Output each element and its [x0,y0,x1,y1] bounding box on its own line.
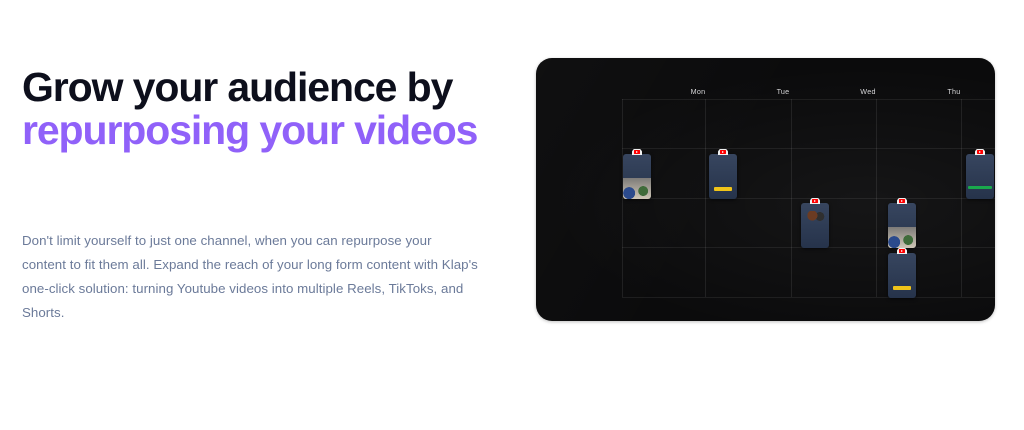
calendar-panel: Mon Tue Wed Thu [536,58,995,321]
hero-paragraph: Don't limit yourself to just one channel… [22,229,478,325]
day-label-tue: Tue [753,87,813,99]
page-root: Grow your audience by repurposing your v… [0,0,1024,430]
grid-row-divider [622,297,995,298]
day-label-mon: Mon [668,87,728,99]
day-label-thu: Thu [924,87,984,99]
youtube-icon [898,248,906,254]
scheduled-post-card[interactable] [623,154,651,199]
youtube-icon [633,149,641,155]
page-title: Grow your audience by repurposing your v… [22,66,482,152]
scheduled-post-card[interactable] [888,203,916,248]
day-label-wed: Wed [838,87,898,99]
video-thumbnail [801,203,829,248]
video-thumbnail [709,154,737,199]
video-thumbnail [888,253,916,298]
video-thumbnail [623,154,651,199]
headline-plain: Grow your audience by [22,64,452,110]
youtube-icon [976,149,984,155]
grid-row-divider [622,148,995,149]
youtube-icon [811,198,819,204]
youtube-icon [898,198,906,204]
scheduled-post-card[interactable] [801,203,829,248]
youtube-icon [719,149,727,155]
scheduled-post-card[interactable] [966,154,994,199]
video-thumbnail [966,154,994,199]
scheduled-post-card[interactable] [709,154,737,199]
headline-accent: repurposing your videos [22,107,477,153]
scheduled-post-card[interactable] [888,253,916,298]
video-thumbnail [888,203,916,248]
hero-text-column: Grow your audience by repurposing your v… [22,66,492,152]
grid-row-divider [622,198,995,199]
grid-row-divider [622,99,995,100]
